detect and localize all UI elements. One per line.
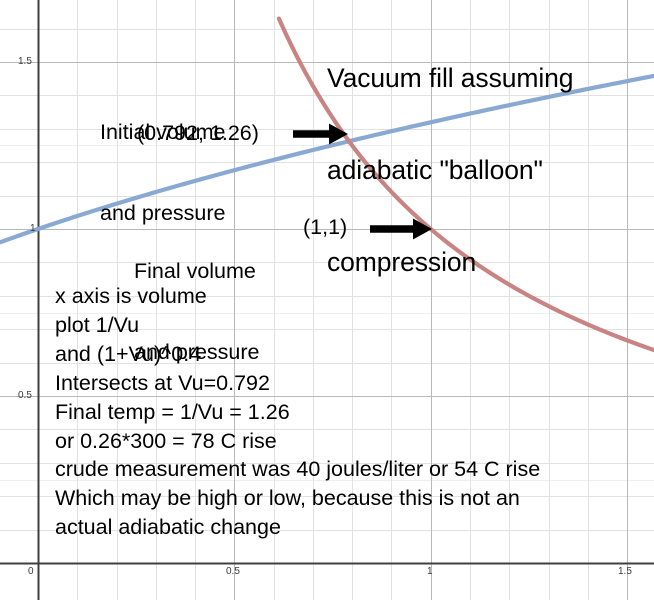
axis-lines: [0, 0, 654, 600]
data-series-group: [0, 19, 654, 357]
chart-plot-area: [0, 0, 654, 600]
faint-gridlines: [0, 146, 654, 481]
minor-gridlines: [0, 0, 654, 600]
chart-canvas: 0 0.5 1 1.5 1.5 1 0.5 Vacuum fill assumi…: [0, 0, 654, 600]
major-gridlines: [0, 0, 654, 600]
series-red-inverse: [279, 19, 654, 357]
series-blue-adiabatic: [0, 73, 654, 246]
